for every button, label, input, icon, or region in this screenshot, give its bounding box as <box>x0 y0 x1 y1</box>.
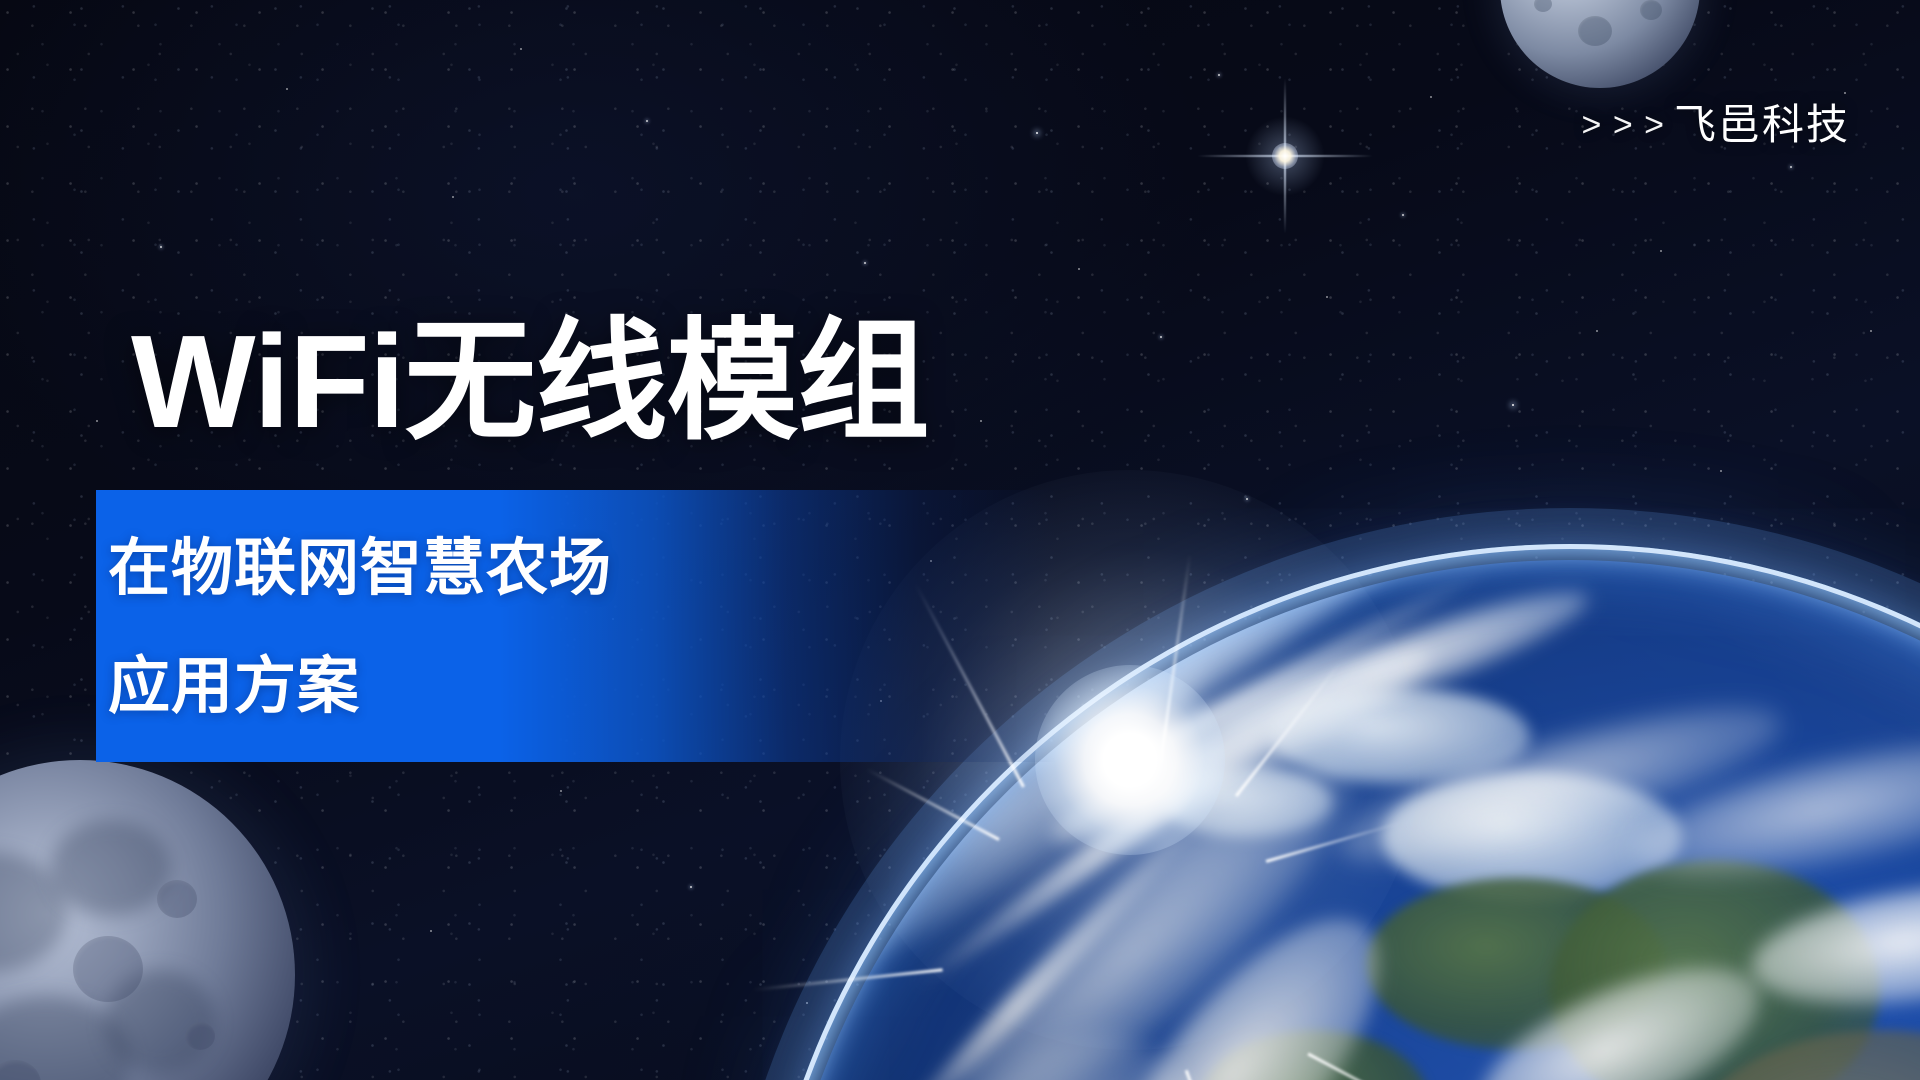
subtitle-text: 在物联网智慧农场 应用方案 <box>108 510 612 746</box>
headline-title: WiFi无线模组 <box>131 316 928 448</box>
brand-name: 飞邑科技 <box>1674 104 1850 146</box>
subtitle-line-2: 应用方案 <box>108 628 612 746</box>
poster-canvas: > > > 飞邑科技 WiFi无线模组 在物联网智慧农场 应用方案 <box>0 0 1920 1080</box>
subtitle-line-1: 在物联网智慧农场 <box>108 510 612 628</box>
chevron-right-icon: > > > <box>1582 108 1665 142</box>
brand-logo[interactable]: > > > 飞邑科技 <box>1582 104 1850 146</box>
